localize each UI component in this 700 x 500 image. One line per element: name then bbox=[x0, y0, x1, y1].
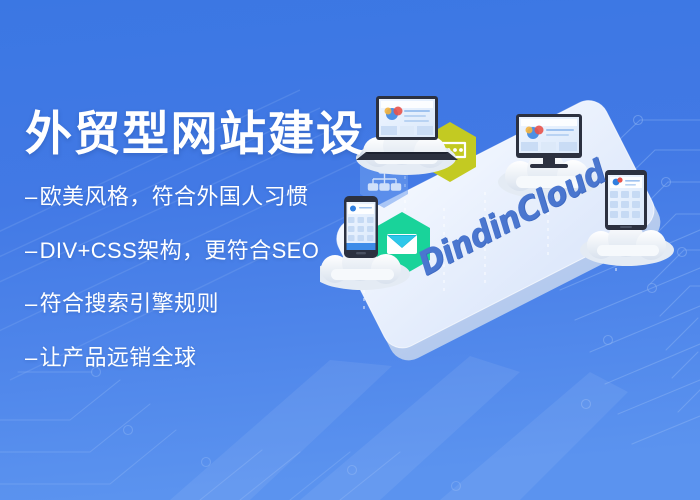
bullet-dash: – bbox=[25, 183, 38, 211]
bullet-dash: – bbox=[25, 290, 38, 318]
tablet bbox=[605, 170, 647, 230]
list-item: –让产品远销全球 bbox=[25, 344, 385, 372]
bullet-text: DIV+CSS架构，更符合SEO bbox=[40, 238, 320, 263]
list-item: –符合搜索引擎规则 bbox=[25, 290, 385, 318]
list-item: –欧美风格，符合外国人习惯 bbox=[25, 183, 385, 211]
envelope-icon bbox=[387, 234, 417, 254]
bullet-text: 符合搜索引擎规则 bbox=[40, 291, 219, 316]
bullet-dash: – bbox=[25, 344, 38, 372]
page-title: 外贸型网站建设 bbox=[25, 110, 385, 157]
bullet-text: 欧美风格，符合外国人习惯 bbox=[40, 184, 309, 209]
tablet-app-grid bbox=[610, 191, 640, 218]
list-item: –DIV+CSS架构，更符合SEO bbox=[25, 237, 385, 265]
copy-block: 外贸型网站建设 –欧美风格，符合外国人习惯 –DIV+CSS架构，更符合SEO … bbox=[25, 110, 385, 371]
bullet-dash: – bbox=[25, 237, 38, 265]
banner-stage: 外贸型网站建设 –欧美风格，符合外国人习惯 –DIV+CSS架构，更符合SEO … bbox=[0, 0, 700, 500]
bullet-text: 让产品远销全球 bbox=[40, 345, 197, 370]
feature-list: –欧美风格，符合外国人习惯 –DIV+CSS架构，更符合SEO –符合搜索引擎规… bbox=[25, 183, 385, 371]
